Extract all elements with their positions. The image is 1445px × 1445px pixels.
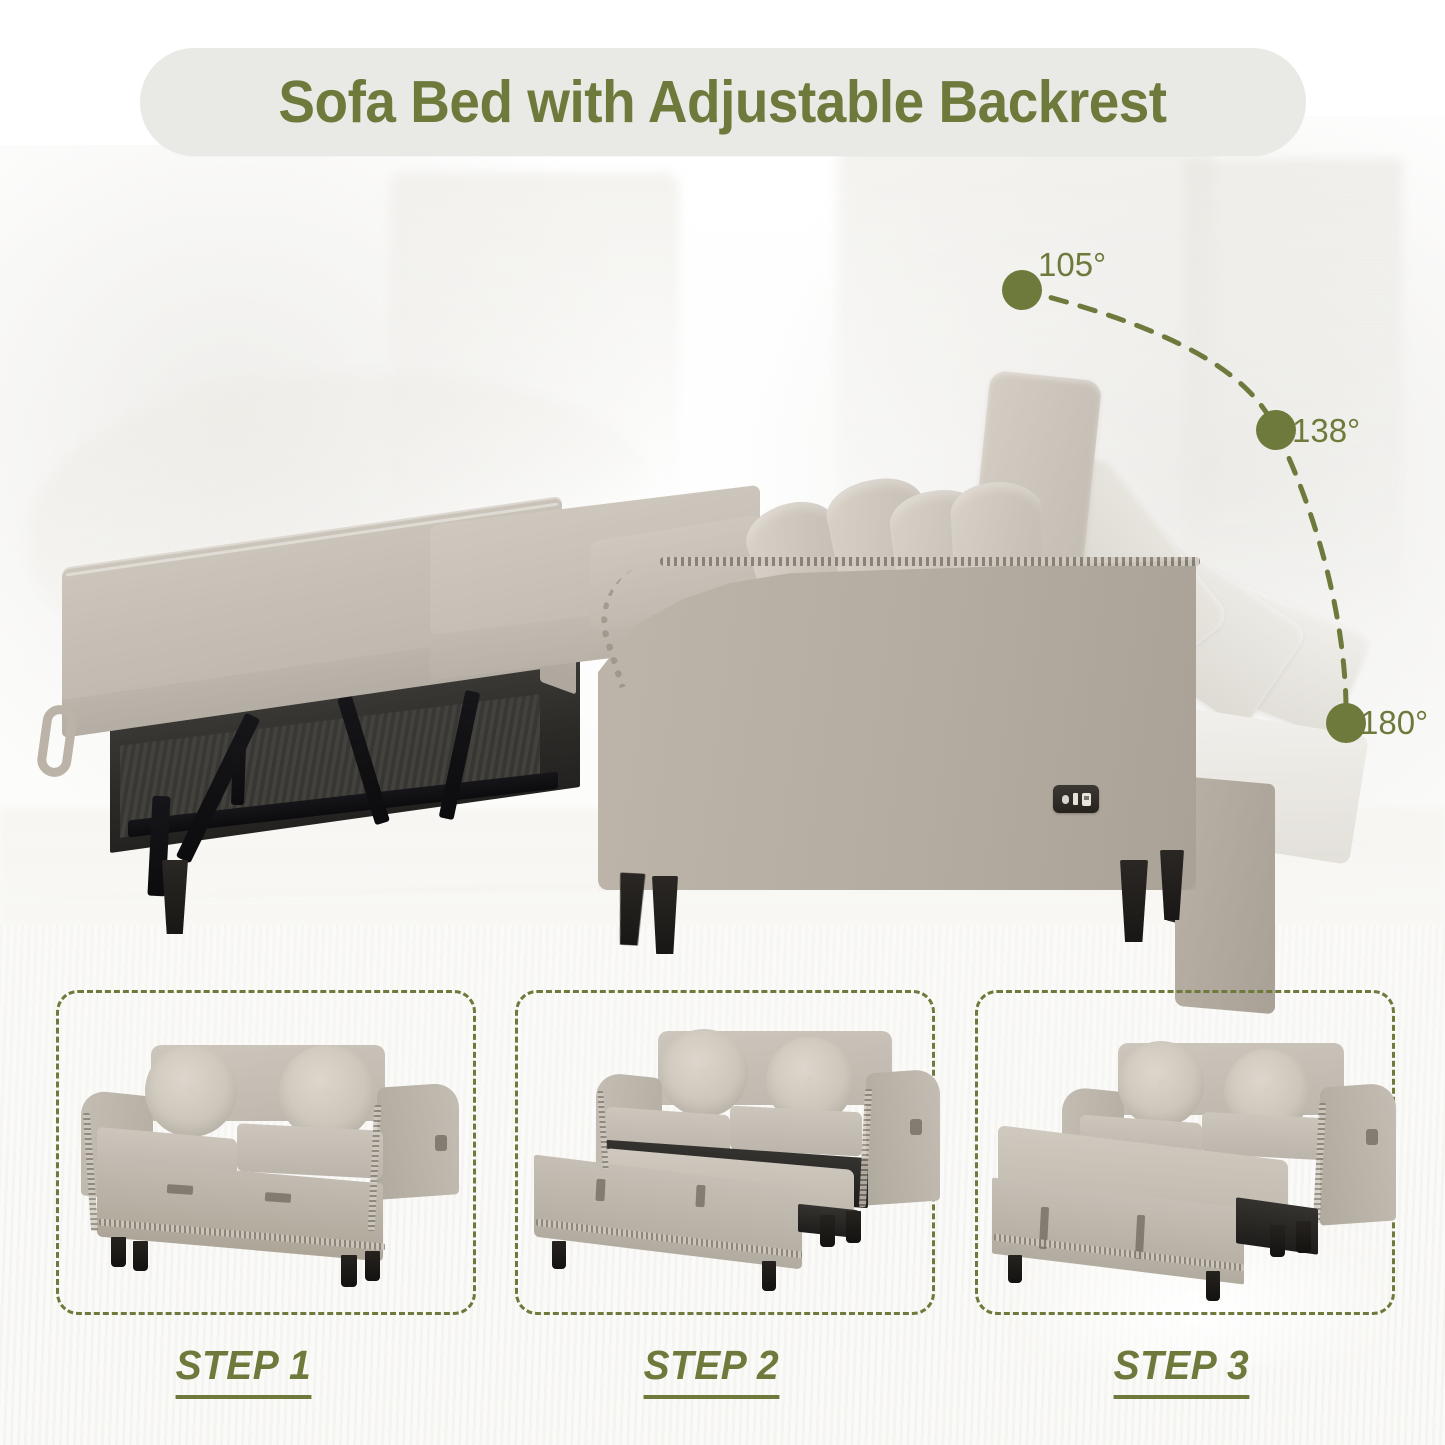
side-handle: [910, 1119, 922, 1135]
step-2-sofa-illustration: [518, 993, 932, 1312]
pullout-handle: [695, 1185, 705, 1207]
step-3-image-frame: [975, 990, 1395, 1315]
seat-cushion-right: [237, 1123, 383, 1179]
pull-strap[interactable]: [35, 703, 79, 779]
sofa-arm-right: [1320, 1082, 1396, 1225]
step-1-label: STEP 1: [176, 1342, 312, 1399]
nailhead-trim-icon: [660, 557, 1200, 566]
drawer-handle: [167, 1184, 194, 1195]
angle-label-138: 138°: [1292, 412, 1360, 450]
sofa-leg: [652, 876, 678, 954]
bed-frame-post: [231, 745, 246, 805]
sofa-leg: [1296, 1221, 1311, 1253]
sofa-leg: [111, 1237, 126, 1267]
angle-label-180: 180°: [1360, 704, 1428, 742]
sofa-leg: [133, 1241, 148, 1271]
drawer-handle: [265, 1192, 292, 1203]
sofa-leg: [846, 1211, 861, 1243]
angle-label-105: 105°: [1038, 246, 1106, 284]
side-handle: [1366, 1129, 1378, 1145]
sofa-leg: [1008, 1255, 1022, 1283]
page-title: Sofa Bed with Adjustable Backrest: [279, 68, 1167, 136]
usb-c-icon: [1062, 795, 1069, 804]
sofa-leg: [162, 860, 188, 934]
step-2-image-frame: [515, 990, 935, 1315]
sofa-leg: [1270, 1225, 1285, 1257]
product-infographic: Sofa Bed with Adjustable Backrest: [0, 0, 1445, 1445]
step-3-label: STEP 3: [1114, 1342, 1250, 1399]
usb-a-icon: [1082, 793, 1091, 806]
usb-slot-icon: [1073, 793, 1078, 805]
steps-section: STEP 1 STEP 2 STEP 3: [0, 990, 1445, 1445]
sofa-arm-right: [866, 1068, 940, 1205]
sofa-leg: [820, 1215, 835, 1247]
page-title-banner: Sofa Bed with Adjustable Backrest: [140, 48, 1306, 156]
step-1-image-frame: [56, 990, 476, 1315]
step-3-sofa-illustration: [978, 993, 1392, 1312]
hero-product-image: [0, 160, 1445, 980]
sofa-leg: [341, 1255, 357, 1287]
step-2-label: STEP 2: [644, 1342, 780, 1399]
usb-charging-port[interactable]: [1053, 785, 1099, 813]
step-1-sofa-illustration: [59, 993, 473, 1312]
round-pillow-left: [145, 1045, 237, 1137]
sofa-leg: [1120, 860, 1148, 942]
side-handle: [435, 1135, 447, 1151]
round-pillow-left: [1118, 1041, 1204, 1127]
pullout-handle: [595, 1179, 605, 1201]
sofa-leg: [1206, 1271, 1220, 1301]
round-pillow-left: [660, 1029, 748, 1117]
seat-cushion-right: [730, 1106, 862, 1157]
sofa-leg: [552, 1241, 566, 1269]
sofa-leg: [365, 1251, 380, 1281]
sofa-leg: [762, 1261, 776, 1291]
